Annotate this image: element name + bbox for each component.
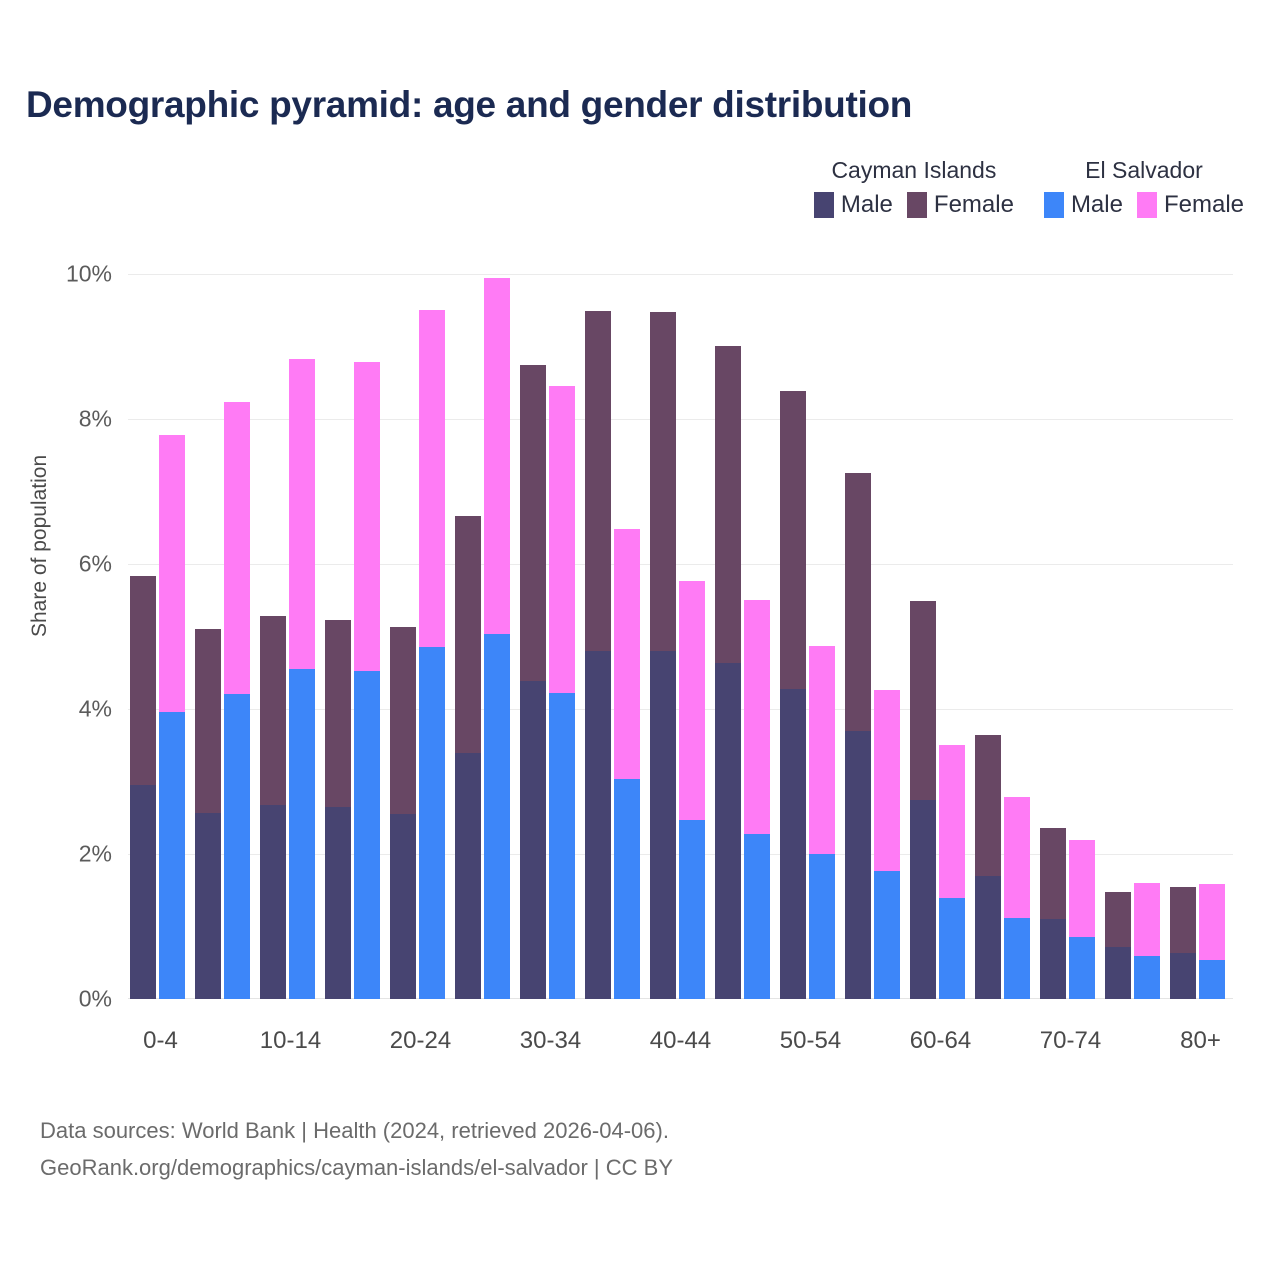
bar-segment-elsalvador-female[interactable] xyxy=(809,646,835,854)
bar-cayman-islands[interactable] xyxy=(195,629,221,999)
bar-el-salvador[interactable] xyxy=(289,359,315,999)
bar-segment-elsalvador-female[interactable] xyxy=(614,529,640,779)
footer-line-sources: Data sources: World Bank | Health (2024,… xyxy=(40,1112,673,1149)
bar-segment-cayman-female[interactable] xyxy=(1040,828,1066,919)
legend: Cayman IslandsMaleFemaleEl SalvadorMaleF… xyxy=(784,155,1244,219)
bar-segment-cayman-male[interactable] xyxy=(325,807,351,999)
legend-group-2: El SalvadorMaleFemale xyxy=(1044,155,1244,219)
bar-segment-cayman-female[interactable] xyxy=(1170,887,1196,952)
bar-cayman-islands[interactable] xyxy=(455,516,481,999)
legend-label: Female xyxy=(1164,191,1244,219)
bar-group xyxy=(648,274,713,999)
bar-el-salvador[interactable] xyxy=(224,402,250,999)
bar-segment-elsalvador-male[interactable] xyxy=(614,779,640,999)
bar-segment-elsalvador-male[interactable] xyxy=(354,671,380,999)
bar-segment-cayman-male[interactable] xyxy=(260,805,286,999)
legend-swatch-icon xyxy=(1044,192,1064,218)
legend-swatch-icon xyxy=(814,192,834,218)
bar-cayman-islands[interactable] xyxy=(975,735,1001,999)
bar-segment-cayman-female[interactable] xyxy=(260,616,286,805)
legend-entries: MaleFemale xyxy=(814,191,1014,219)
bar-segment-cayman-male[interactable] xyxy=(1170,953,1196,999)
bar-group xyxy=(388,274,453,999)
bar-group xyxy=(1168,274,1233,999)
y-tick-label: 10% xyxy=(66,261,112,288)
legend-group-1: Cayman IslandsMaleFemale xyxy=(814,155,1014,219)
bar-group xyxy=(583,274,648,999)
bar-segment-elsalvador-female[interactable] xyxy=(1069,840,1095,937)
y-tick-label: 0% xyxy=(79,986,112,1013)
bar-group xyxy=(128,274,193,999)
bar-segment-cayman-female[interactable] xyxy=(975,735,1001,876)
bar-segment-cayman-female[interactable] xyxy=(130,576,156,785)
bar-cayman-islands[interactable] xyxy=(390,627,416,999)
page-title: Demographic pyramid: age and gender dist… xyxy=(26,84,912,126)
bar-group xyxy=(518,274,583,999)
bar-segment-cayman-female[interactable] xyxy=(845,473,871,732)
x-tick-label: 30-34 xyxy=(520,1027,581,1055)
bar-el-salvador[interactable] xyxy=(419,310,445,999)
bar-el-salvador[interactable] xyxy=(1004,797,1030,999)
bar-cayman-islands[interactable] xyxy=(650,312,676,999)
x-tick-label: 10-14 xyxy=(260,1027,321,1055)
bar-segment-cayman-female[interactable] xyxy=(195,629,221,813)
bar-segment-cayman-female[interactable] xyxy=(325,620,351,807)
x-tick-label: 70-74 xyxy=(1040,1027,1101,1055)
bar-segment-elsalvador-male[interactable] xyxy=(484,634,510,999)
bar-segment-elsalvador-female[interactable] xyxy=(1134,883,1160,956)
bar-group xyxy=(1103,274,1168,999)
bar-el-salvador[interactable] xyxy=(809,646,835,999)
bar-group xyxy=(193,274,258,999)
y-tick-label: 6% xyxy=(79,551,112,578)
bar-cayman-islands[interactable] xyxy=(1040,828,1066,999)
bar-segment-elsalvador-male[interactable] xyxy=(159,712,185,999)
bar-segment-elsalvador-male[interactable] xyxy=(1069,937,1095,999)
bar-segment-cayman-female[interactable] xyxy=(1105,892,1131,947)
bar-group xyxy=(973,274,1038,999)
bar-segment-cayman-female[interactable] xyxy=(910,601,936,800)
x-tick-label: 50-54 xyxy=(780,1027,841,1055)
bar-segment-cayman-male[interactable] xyxy=(130,785,156,999)
legend-groups: Cayman IslandsMaleFemaleEl SalvadorMaleF… xyxy=(784,155,1244,219)
x-tick-label: 40-44 xyxy=(650,1027,711,1055)
bar-segment-elsalvador-female[interactable] xyxy=(874,690,900,871)
bar-segment-cayman-female[interactable] xyxy=(390,627,416,814)
legend-group-title: El Salvador xyxy=(1085,155,1203,185)
bar-group xyxy=(258,274,323,999)
bar-cayman-islands[interactable] xyxy=(1170,887,1196,999)
bar-cayman-islands[interactable] xyxy=(585,311,611,999)
bar-cayman-islands[interactable] xyxy=(325,620,351,999)
bar-segment-cayman-male[interactable] xyxy=(1105,947,1131,999)
bar-segment-elsalvador-male[interactable] xyxy=(419,647,445,999)
x-tick-label: 20-24 xyxy=(390,1027,451,1055)
plot-area xyxy=(128,274,1233,999)
bar-segment-cayman-male[interactable] xyxy=(845,731,871,999)
bar-group xyxy=(908,274,973,999)
bar-segment-elsalvador-male[interactable] xyxy=(224,694,250,999)
bar-segment-elsalvador-female[interactable] xyxy=(484,278,510,635)
bar-segment-cayman-male[interactable] xyxy=(520,681,546,999)
bar-segment-cayman-male[interactable] xyxy=(650,651,676,999)
legend-label: Female xyxy=(934,191,1014,219)
bar-group xyxy=(713,274,778,999)
bar-cayman-islands[interactable] xyxy=(780,391,806,999)
bar-segment-cayman-female[interactable] xyxy=(455,516,481,753)
bar-cayman-islands[interactable] xyxy=(260,616,286,999)
bar-segment-elsalvador-male[interactable] xyxy=(1199,960,1225,999)
bar-cayman-islands[interactable] xyxy=(520,365,546,999)
legend-entries: MaleFemale xyxy=(1044,191,1244,219)
bar-segment-elsalvador-female[interactable] xyxy=(419,310,445,646)
bar-el-salvador[interactable] xyxy=(1199,884,1225,999)
bar-el-salvador[interactable] xyxy=(354,362,380,999)
bar-segment-elsalvador-male[interactable] xyxy=(874,871,900,999)
x-tick-label: 80+ xyxy=(1180,1027,1221,1055)
bars-layer xyxy=(128,274,1233,999)
x-tick-label: 0-4 xyxy=(143,1027,178,1055)
legend-entry[interactable]: Male xyxy=(814,191,893,219)
bar-segment-cayman-male[interactable] xyxy=(910,800,936,999)
bar-cayman-islands[interactable] xyxy=(845,473,871,999)
bar-el-salvador[interactable] xyxy=(1069,840,1095,999)
footer-line-attribution: GeoRank.org/demographics/cayman-islands/… xyxy=(40,1149,673,1186)
y-tick-label: 2% xyxy=(79,841,112,868)
bar-cayman-islands[interactable] xyxy=(910,601,936,999)
bar-segment-elsalvador-male[interactable] xyxy=(809,854,835,999)
legend-label: Male xyxy=(841,191,893,219)
legend-entry[interactable]: Male xyxy=(1044,191,1123,219)
bar-el-salvador[interactable] xyxy=(744,600,770,999)
bar-segment-cayman-male[interactable] xyxy=(390,814,416,999)
bar-segment-elsalvador-male[interactable] xyxy=(679,820,705,999)
bar-el-salvador[interactable] xyxy=(679,581,705,999)
bar-group xyxy=(778,274,843,999)
bar-segment-elsalvador-female[interactable] xyxy=(289,359,315,669)
bar-segment-elsalvador-male[interactable] xyxy=(1134,956,1160,1000)
bar-el-salvador[interactable] xyxy=(939,745,965,999)
bar-segment-elsalvador-female[interactable] xyxy=(1199,884,1225,959)
bar-segment-cayman-male[interactable] xyxy=(455,753,481,999)
bar-segment-cayman-male[interactable] xyxy=(1040,919,1066,999)
bar-segment-elsalvador-male[interactable] xyxy=(549,693,575,999)
bar-segment-cayman-male[interactable] xyxy=(780,689,806,999)
bar-cayman-islands[interactable] xyxy=(715,346,741,999)
bar-el-salvador[interactable] xyxy=(549,386,575,999)
bar-el-salvador[interactable] xyxy=(874,690,900,999)
bar-el-salvador[interactable] xyxy=(614,529,640,999)
legend-entry[interactable]: Female xyxy=(1137,191,1244,219)
bar-group xyxy=(1038,274,1103,999)
bar-group xyxy=(453,274,518,999)
legend-label: Male xyxy=(1071,191,1123,219)
bar-group xyxy=(843,274,908,999)
chart-page: Demographic pyramid: age and gender dist… xyxy=(0,0,1280,1280)
bar-segment-elsalvador-female[interactable] xyxy=(679,581,705,820)
bar-el-salvador[interactable] xyxy=(159,435,185,999)
footer: Data sources: World Bank | Health (2024,… xyxy=(40,1112,673,1186)
bar-cayman-islands[interactable] xyxy=(1105,892,1131,999)
bar-segment-elsalvador-female[interactable] xyxy=(159,435,185,712)
bar-segment-elsalvador-male[interactable] xyxy=(939,898,965,1000)
bar-segment-cayman-male[interactable] xyxy=(975,876,1001,999)
legend-swatch-icon xyxy=(907,192,927,218)
y-tick-label: 8% xyxy=(79,406,112,433)
bar-el-salvador[interactable] xyxy=(1134,883,1160,999)
bar-group xyxy=(323,274,388,999)
x-tick-label: 60-64 xyxy=(910,1027,971,1055)
bar-segment-cayman-female[interactable] xyxy=(715,346,741,664)
bar-segment-elsalvador-female[interactable] xyxy=(744,600,770,833)
bar-cayman-islands[interactable] xyxy=(130,576,156,999)
legend-entry[interactable]: Female xyxy=(907,191,1014,219)
legend-group-title: Cayman Islands xyxy=(831,155,996,185)
bar-segment-elsalvador-male[interactable] xyxy=(289,669,315,999)
bar-el-salvador[interactable] xyxy=(484,278,510,999)
bar-segment-cayman-female[interactable] xyxy=(650,312,676,651)
bar-segment-elsalvador-female[interactable] xyxy=(354,362,380,671)
y-axis-title: Share of population xyxy=(28,455,52,637)
bar-segment-cayman-male[interactable] xyxy=(585,651,611,999)
bar-segment-cayman-female[interactable] xyxy=(520,365,546,681)
y-tick-label: 4% xyxy=(79,696,112,723)
bar-segment-cayman-male[interactable] xyxy=(715,663,741,999)
bar-segment-elsalvador-female[interactable] xyxy=(224,402,250,693)
bar-segment-elsalvador-female[interactable] xyxy=(1004,797,1030,918)
legend-swatch-icon xyxy=(1137,192,1157,218)
bar-segment-elsalvador-male[interactable] xyxy=(744,834,770,999)
bar-segment-cayman-male[interactable] xyxy=(195,813,221,999)
bar-segment-elsalvador-female[interactable] xyxy=(939,745,965,897)
bar-segment-elsalvador-male[interactable] xyxy=(1004,918,1030,999)
bar-segment-cayman-female[interactable] xyxy=(780,391,806,688)
bar-segment-cayman-female[interactable] xyxy=(585,311,611,651)
bar-segment-elsalvador-female[interactable] xyxy=(549,386,575,693)
